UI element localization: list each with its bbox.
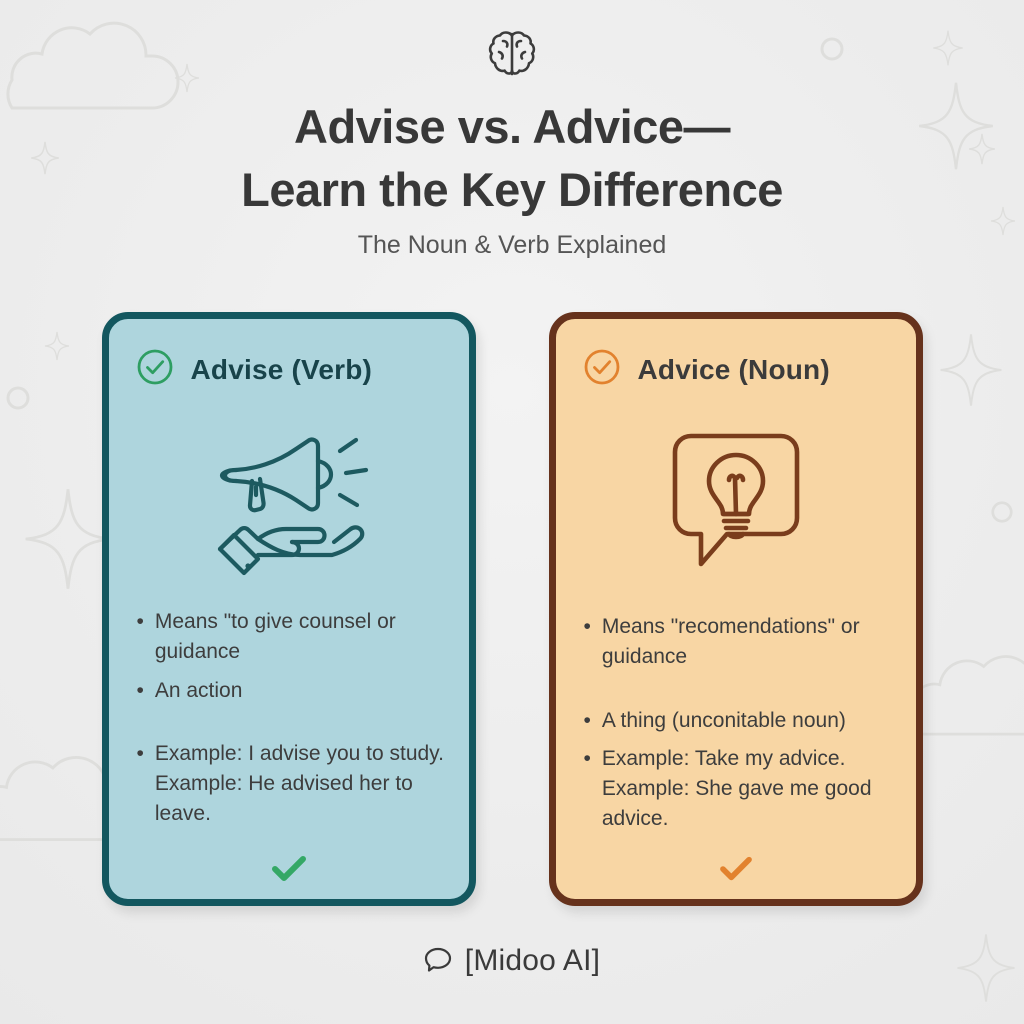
list-item-text: Means "to give counsel or guidance: [155, 607, 447, 667]
list-item: • Means "to give counsel or guidance: [137, 607, 447, 667]
list-item-text: A thing (unconitable noun): [602, 706, 894, 736]
lightbulb-speech-bubble-icon: [556, 392, 916, 612]
card-footer: [109, 843, 469, 899]
title-line-1: Advise vs. Advice—: [0, 96, 1024, 159]
page-subtitle: The Noun & Verb Explained: [0, 231, 1024, 260]
card-header: Advice (Noun): [556, 319, 916, 392]
bullet-marker: •: [584, 744, 591, 833]
checkmark-icon: [718, 855, 754, 888]
card-advise-verb: Advise (Verb): [102, 312, 476, 906]
list-item: • Example: I advise you to study. Exampl…: [137, 739, 447, 828]
brain-icon: [0, 26, 1024, 82]
bullet-marker: •: [584, 612, 591, 672]
speech-bubble-icon: [424, 945, 452, 978]
infographic-canvas: Advise vs. Advice— Learn the Key Differe…: [0, 0, 1024, 1024]
list-item: • Example: Take my advice. Example: She …: [584, 744, 894, 833]
list-item: • A thing (unconitable noun): [584, 706, 894, 736]
card-bullet-list: • Means "to give counsel or guidance • A…: [109, 607, 469, 843]
page-title: Advise vs. Advice— Learn the Key Differe…: [0, 96, 1024, 221]
list-item-text: Example: I advise you to study. Example:…: [155, 739, 447, 828]
bullet-marker: •: [584, 706, 591, 736]
card-title: Advice (Noun): [638, 354, 830, 386]
bullet-marker: •: [137, 739, 144, 828]
card-title: Advise (Verb): [191, 354, 373, 386]
list-item-text: Means "recomendations" or guidance: [602, 612, 894, 672]
list-item: • An action: [137, 676, 447, 706]
bullet-marker: •: [137, 676, 144, 706]
check-circle-icon: [135, 347, 175, 392]
card-bullet-list: • Means "recomendations" or guidance • A…: [556, 612, 916, 843]
header: Advise vs. Advice— Learn the Key Differe…: [0, 0, 1024, 260]
card-header: Advise (Verb): [109, 319, 469, 392]
list-item: • Means "recomendations" or guidance: [584, 612, 894, 672]
bullet-marker: •: [137, 607, 144, 667]
checkmark-icon: [270, 854, 308, 889]
megaphone-in-hand-icon: [109, 392, 469, 607]
title-line-2: Learn the Key Difference: [0, 159, 1024, 222]
brand-label: [Midoo AI]: [465, 944, 600, 978]
list-item-text: Example: Take my advice. Example: She ga…: [602, 744, 894, 833]
list-item-text: An action: [155, 676, 447, 706]
footer: [Midoo AI]: [0, 944, 1024, 978]
card-advice-noun: Advice (Noun): [549, 312, 923, 906]
comparison-cards: Advise (Verb): [0, 312, 1024, 908]
card-footer: [556, 843, 916, 899]
check-circle-icon: [582, 347, 622, 392]
